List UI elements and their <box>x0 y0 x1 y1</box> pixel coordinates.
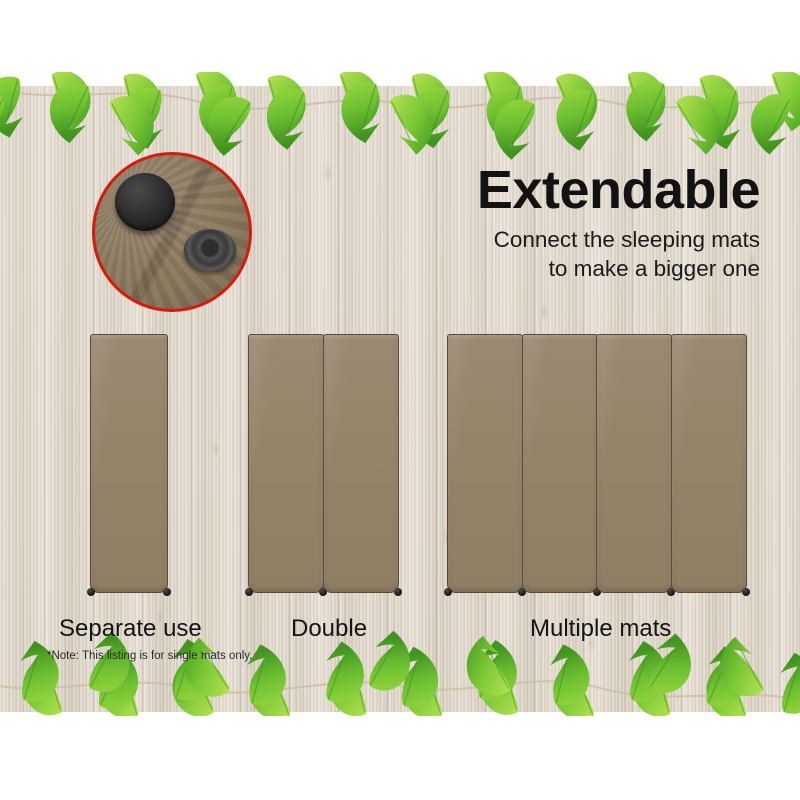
snap-button-stud-icon <box>115 173 175 231</box>
mat-panel <box>447 334 523 593</box>
snap-dot-icon <box>444 588 452 596</box>
snap-dot-icon <box>394 588 402 596</box>
fabric-texture <box>95 155 249 309</box>
snap-dot-icon <box>163 588 171 596</box>
snap-dot-icon <box>742 588 750 596</box>
caption-separate-use: Separate use <box>59 615 202 643</box>
mat-panel <box>90 334 168 593</box>
caption-double: Double <box>291 615 367 643</box>
mat-panel <box>596 334 672 593</box>
mat-panel <box>522 334 598 593</box>
product-feature-image: Extendable Connect the sleeping mats to … <box>0 0 800 800</box>
snap-button-socket-icon <box>184 229 236 271</box>
mat-panel <box>248 334 324 593</box>
footnote-note: *Note: This listing is for single mats o… <box>47 650 252 662</box>
page-title: Extendable <box>360 163 760 217</box>
promo-subtitle: Connect the sleeping mats to make a bigg… <box>360 226 760 284</box>
mat-panel <box>671 334 747 593</box>
mat-panel <box>323 334 399 593</box>
mat-configuration-multiple <box>447 334 747 593</box>
mat-configuration-single <box>90 334 168 593</box>
mat-configuration-double <box>248 334 399 593</box>
promo-subtitle-line-2: to make a bigger one <box>549 256 760 281</box>
snap-fastener-closeup-inset <box>92 152 252 312</box>
snap-dot-icon <box>87 588 95 596</box>
caption-multiple-mats: Multiple mats <box>530 615 671 643</box>
promo-subtitle-line-1: Connect the sleeping mats <box>494 227 760 252</box>
snap-dot-icon <box>245 588 253 596</box>
promo-text-block: Extendable Connect the sleeping mats to … <box>360 163 760 284</box>
